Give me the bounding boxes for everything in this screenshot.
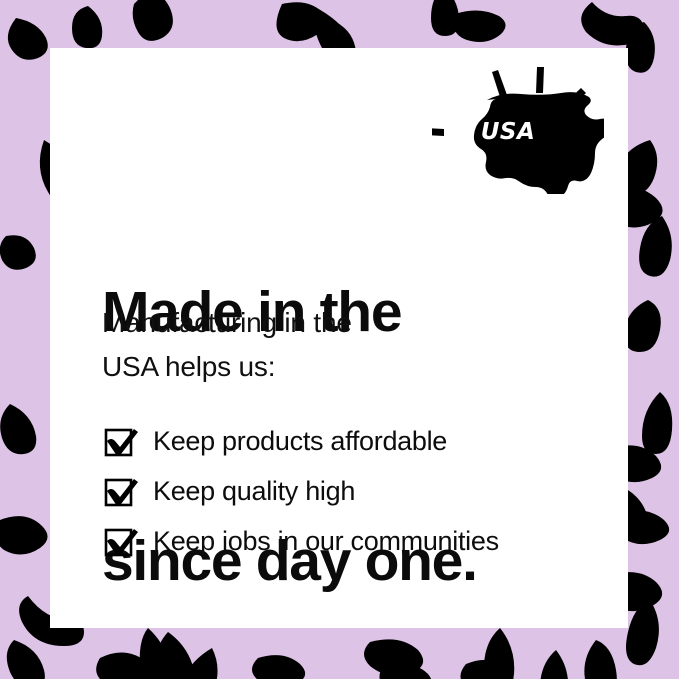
list-item: Keep jobs in our communities	[103, 516, 623, 566]
checked-checkbox-icon	[103, 524, 137, 558]
intro-line-1: Manufacturing in the	[102, 301, 522, 345]
list-item-label: Keep products affordable	[153, 426, 447, 456]
list-item: Keep quality high	[103, 466, 623, 516]
intro-paragraph: Manufacturing in the USA helps us:	[102, 301, 522, 389]
list-item: Keep products affordable	[103, 416, 623, 466]
checked-checkbox-icon	[103, 474, 137, 508]
list-item-label: Keep jobs in our communities	[153, 526, 499, 556]
content-card: Made in the since day one. USA	[50, 48, 628, 628]
page-title: Made in the since day one.	[102, 105, 572, 679]
intro-line-2: USA helps us:	[102, 345, 522, 389]
ray-left	[492, 70, 507, 97]
list-item-label: Keep quality high	[153, 476, 355, 506]
ray-center	[536, 67, 544, 93]
poster-canvas: Made in the since day one. USA	[0, 0, 679, 679]
checked-checkbox-icon	[103, 424, 137, 458]
benefits-checklist: Keep products affordable Keep quality hi…	[103, 416, 623, 566]
